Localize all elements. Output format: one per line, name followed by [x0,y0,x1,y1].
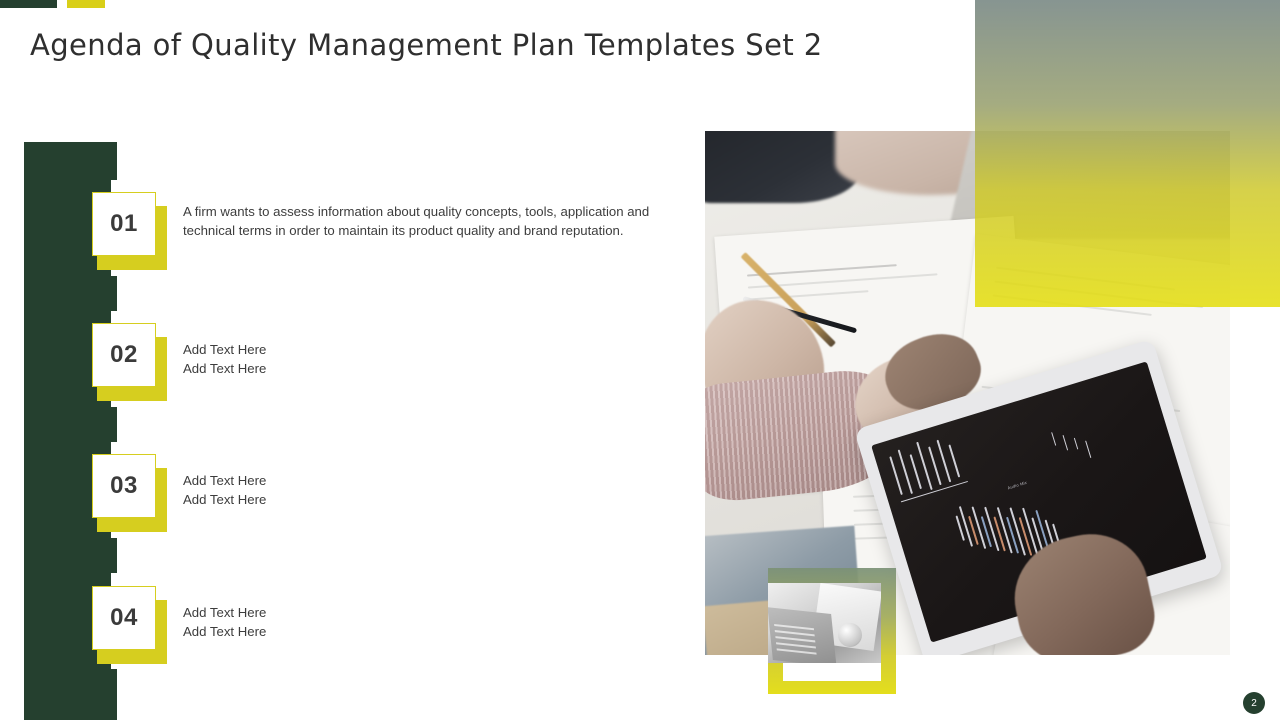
agenda-number-label: 03 [110,472,138,500]
tablet-screen-label: Audio Mix [1007,480,1028,491]
inset-photo [768,583,881,663]
agenda-number-badge: 04 [92,586,170,664]
agenda-item-text-line1: Add Text Here [183,603,678,622]
agenda-number-badge: 03 [92,454,170,532]
agenda-item-01[interactable]: 01 A firm wants to assess information ab… [0,192,660,288]
agenda-item-text-line1: Add Text Here [183,340,678,359]
agenda-item-text: Add Text Here Add Text Here [183,603,678,641]
agenda-item-text-line1: Add Text Here [183,471,678,490]
page-title: Agenda of Quality Management Plan Templa… [30,28,823,62]
agenda-item-text: A firm wants to assess information about… [183,202,678,240]
agenda-item-03[interactable]: 03 Add Text Here Add Text Here [0,454,660,550]
agenda-item-text-line2: Add Text Here [183,622,678,641]
top-accent-bar-green [0,0,57,8]
agenda-item-04[interactable]: 04 Add Text Here Add Text Here [0,586,660,682]
agenda-number-label: 01 [110,210,138,238]
agenda-number-badge: 02 [92,323,170,401]
top-accent-bar-yellow [67,0,105,8]
gradient-overlay-top-right [975,0,1280,307]
inset-laptop [768,607,837,663]
page-number-badge: 2 [1243,692,1265,714]
agenda-item-text: Add Text Here Add Text Here [183,471,678,509]
inset-cup [838,623,862,647]
agenda-item-text-line2: Add Text Here [183,490,678,509]
agenda-item-text: Add Text Here Add Text Here [183,340,678,378]
agenda-item-02[interactable]: 02 Add Text Here Add Text Here [0,323,660,419]
number-badge-box: 04 [92,586,156,650]
number-badge-box: 03 [92,454,156,518]
agenda-number-badge: 01 [92,192,170,270]
number-badge-box: 02 [92,323,156,387]
agenda-number-label: 02 [110,341,138,369]
inset-photo-content [768,583,881,663]
number-badge-box: 01 [92,192,156,256]
agenda-item-text-line2: Add Text Here [183,359,678,378]
agenda-number-label: 04 [110,604,138,632]
